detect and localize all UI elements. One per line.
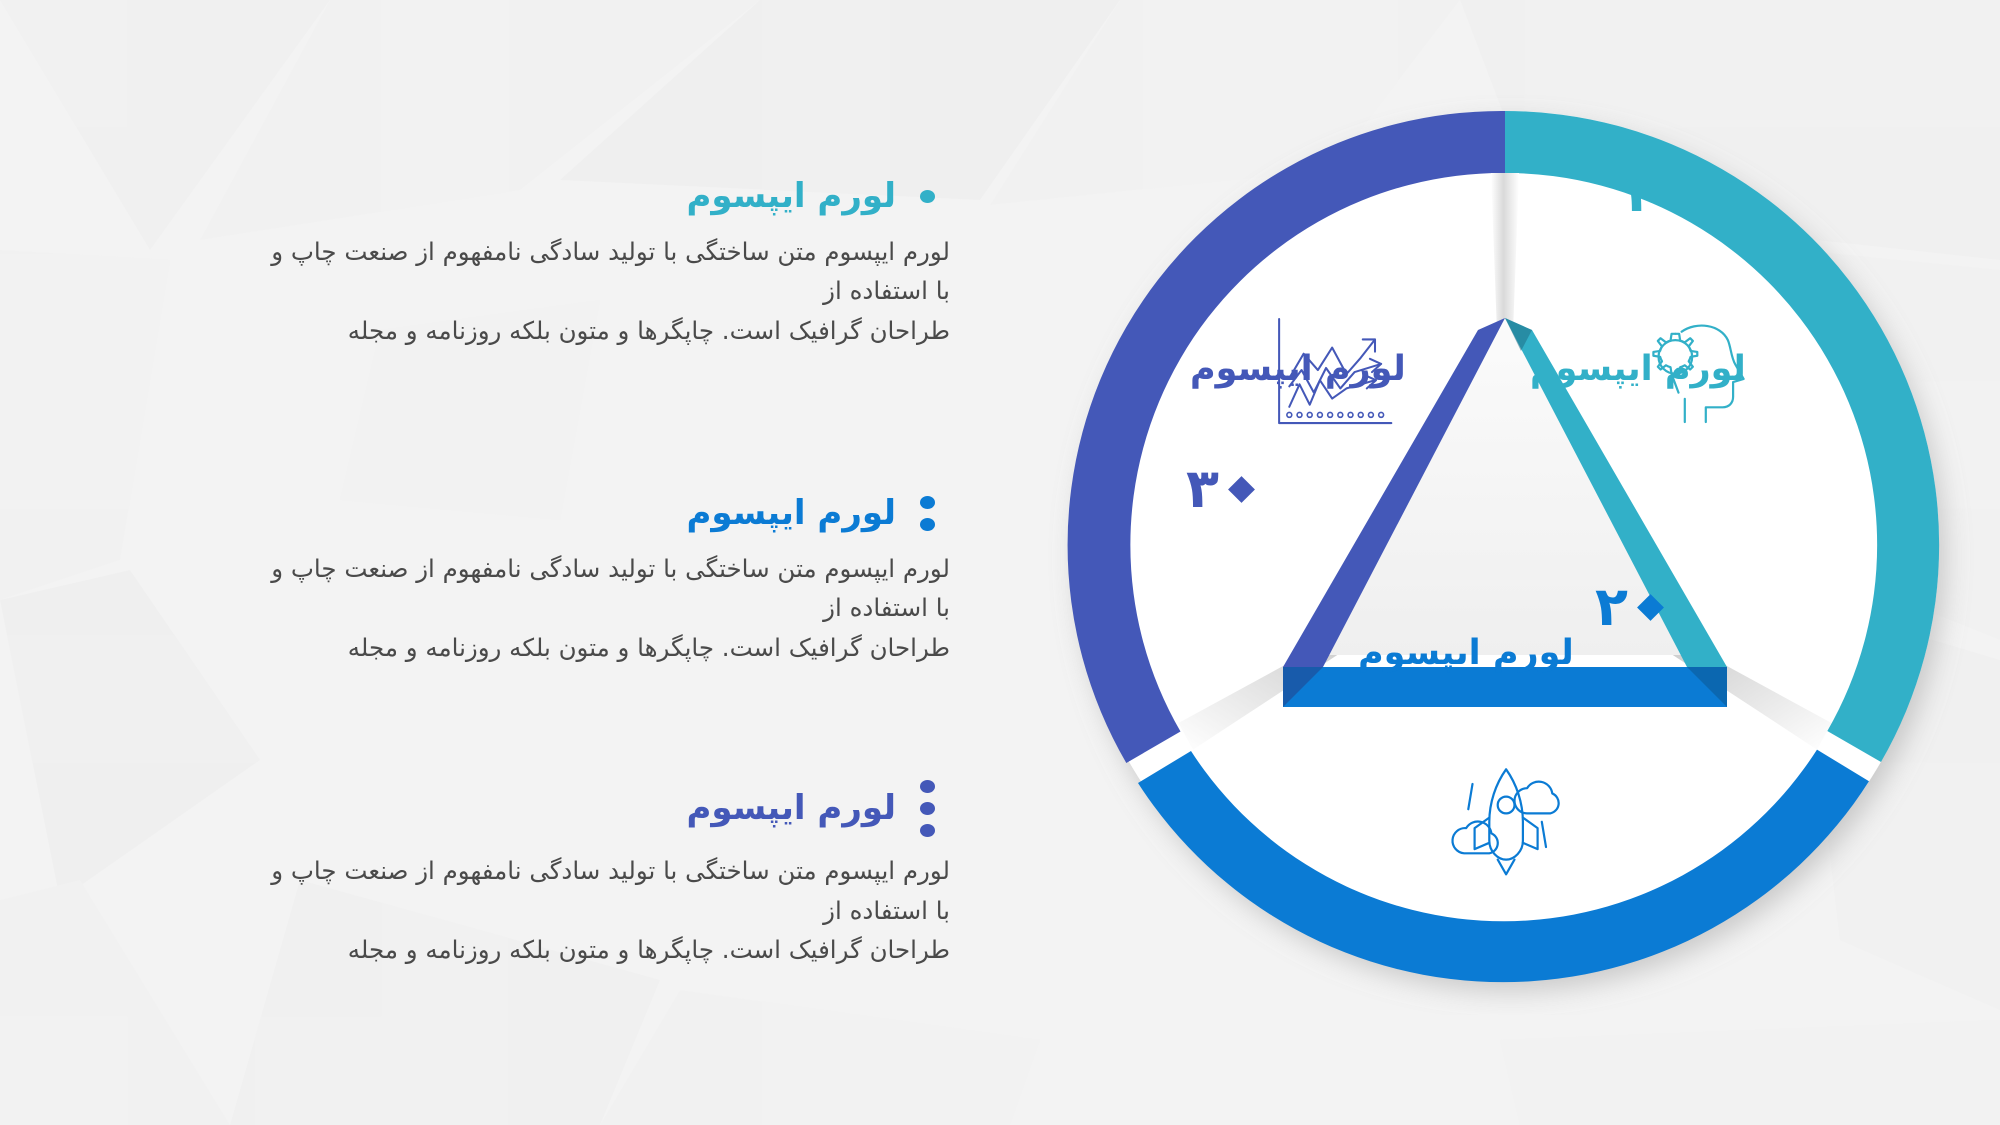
segment-3-number: ۳ <box>1186 462 1219 516</box>
info-block-1-heading: لورم ایپسوم <box>686 175 904 218</box>
bullet-dot <box>920 780 935 793</box>
segment-2-number: ۲ <box>1595 580 1628 634</box>
body-line: لورم ایپسوم متن ساختگی با تولید سادگی نا… <box>250 549 950 628</box>
bullet-group-1 <box>904 190 950 203</box>
body-line: لورم ایپسوم متن ساختگی با تولید سادگی نا… <box>250 232 950 311</box>
triangle-leg-blue <box>1283 667 1727 707</box>
bullet-group-2 <box>904 496 950 531</box>
info-block-2-body: لورم ایپسوم متن ساختگی با تولید سادگی نا… <box>40 549 950 668</box>
segment-3-number-group: ۳ <box>1186 462 1251 516</box>
body-line: لورم ایپسوم متن ساختگی با تولید سادگی نا… <box>250 851 950 930</box>
wheel-graphic <box>1035 75 1975 1015</box>
body-line: طراحان گرافیک است. چاپگرها و متون بلکه ر… <box>250 311 950 351</box>
body-line: طراحان گرافیک است. چاپگرها و متون بلکه ر… <box>250 628 950 668</box>
segment-1-number-group: ۱ <box>1618 166 1683 220</box>
diamond-bullet-icon <box>1637 594 1664 621</box>
bullet-dot <box>920 496 935 509</box>
bullet-dot <box>920 518 935 531</box>
info-block-3-heading: لورم ایپسوم <box>686 787 904 830</box>
segmented-wheel-diagram[interactable]: ۱ ۲ ۳ لورم ایپسوم لورم ایپسوم لورم ایپسو… <box>1010 0 2000 1125</box>
info-block-1-body: لورم ایپسوم متن ساختگی با تولید سادگی نا… <box>40 232 950 351</box>
diamond-bullet-icon <box>1228 476 1255 503</box>
info-block-2-headrow: لورم ایپسوم <box>40 492 950 535</box>
info-block-2-heading: لورم ایپسوم <box>686 492 904 535</box>
segment-1-number: ۱ <box>1618 166 1651 220</box>
segment-1-label[interactable]: لورم ایپسوم <box>1530 352 1746 387</box>
info-block-3-body: لورم ایپسوم متن ساختگی با تولید سادگی نا… <box>40 851 950 970</box>
info-block-1[interactable]: لورم ایپسوم لورم ایپسوم متن ساختگی با تو… <box>40 175 950 351</box>
bullet-dot <box>920 190 935 203</box>
info-block-1-headrow: لورم ایپسوم <box>40 175 950 218</box>
diamond-bullet-icon <box>1660 180 1687 207</box>
segment-3-label[interactable]: لورم ایپسوم <box>1190 352 1406 387</box>
bullet-group-3 <box>904 780 950 837</box>
segment-2-number-group: ۲ <box>1595 580 1660 634</box>
bullet-dot <box>920 802 935 815</box>
body-line: طراحان گرافیک است. چاپگرها و متون بلکه ر… <box>250 930 950 970</box>
info-block-2[interactable]: لورم ایپسوم لورم ایپسوم متن ساختگی با تو… <box>40 492 950 668</box>
segment-2-label[interactable]: لورم ایپسوم <box>1358 636 1574 671</box>
info-block-3[interactable]: لورم ایپسوم لورم ایپسوم متن ساختگی با تو… <box>40 780 950 970</box>
text-column: لورم ایپسوم لورم ایپسوم متن ساختگی با تو… <box>0 0 1010 1125</box>
info-block-3-headrow: لورم ایپسوم <box>40 780 950 837</box>
bullet-dot <box>920 824 935 837</box>
